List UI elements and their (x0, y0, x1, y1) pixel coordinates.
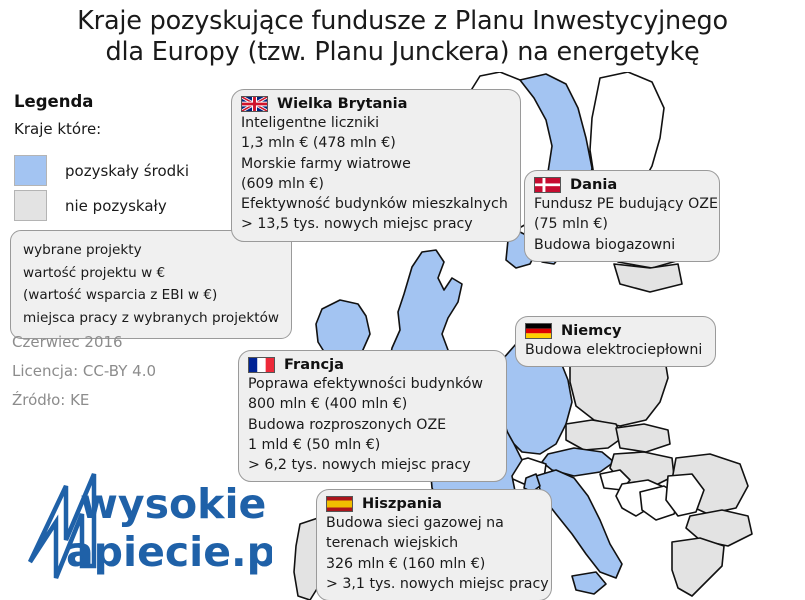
legend-swatch-unfunded (14, 190, 47, 221)
callout-header: Wielka Brytania (241, 95, 510, 112)
callout-line: (75 mln €) (534, 214, 709, 234)
key-line-4: miejsca pracy z wybranych projektów (23, 307, 279, 330)
wysokienapiecie-logo[interactable]: wysokie apiecie.pl (22, 470, 272, 585)
callout-hiszpania[interactable]: Hiszpania Budowa sieci gazowej na terena… (316, 489, 552, 600)
callout-header: Niemcy (525, 322, 705, 339)
key-line-1: wybrane projekty (23, 239, 279, 262)
flag-uk-icon (241, 96, 268, 112)
callout-niemcy[interactable]: Niemcy Budowa elektrociepłowni (515, 316, 716, 367)
legend-item-funded: pozyskały środki (14, 155, 189, 186)
callout-line: > 3,1 tys. nowych miejsc pracy (326, 574, 541, 594)
callout-line: Budowa rozproszonych OZE (248, 415, 496, 435)
logo-word-1: wysokie (80, 480, 266, 528)
flag-germany-icon (525, 323, 552, 339)
legend-item-unfunded: nie pozyskały (14, 190, 167, 221)
callout-line: 1,3 mln € (478 mln €) (241, 133, 510, 153)
callout-line: > 6,2 tys. nowych miejsc pracy (248, 455, 496, 475)
callout-line: Inteligentne liczniki (241, 113, 510, 133)
callout-line: terenach wiejskich (326, 533, 541, 553)
key-line-3: (wartość wsparcia z EBI w €) (23, 284, 279, 307)
callout-line: Morskie farmy wiatrowe (241, 154, 510, 174)
publication-date: Czerwiec 2016 (12, 333, 123, 351)
key-explanation-box: wybrane projekty wartość projektu w € (w… (10, 230, 292, 339)
callout-line: 326 mln € (160 mln €) (326, 554, 541, 574)
callout-country-name: Hiszpania (362, 495, 442, 512)
callout-line: Fundusz PE budujący OZE (534, 194, 709, 214)
callout-header: Dania (534, 176, 709, 193)
legend-label-unfunded: nie pozyskały (65, 197, 167, 215)
flag-denmark-icon (534, 177, 561, 193)
callout-line: Budowa sieci gazowej na (326, 513, 541, 533)
flag-france-icon (248, 357, 275, 373)
callout-line: Poprawa efektywności budynków (248, 374, 496, 394)
callout-wielka-brytania[interactable]: Wielka Brytania Inteligentne liczniki 1,… (231, 89, 521, 242)
callout-country-name: Niemcy (561, 322, 621, 339)
legend-heading: Legenda (14, 92, 93, 111)
callout-country-name: Wielka Brytania (277, 95, 408, 112)
title-line-2: dla Europy (tzw. Planu Junckera) na ener… (0, 37, 805, 68)
callout-header: Hiszpania (326, 495, 541, 512)
callout-dania[interactable]: Dania Fundusz PE budujący OZE (75 mln €)… (524, 170, 720, 262)
legend-subheading: Kraje które: (14, 120, 101, 138)
infographic-root: Kraje pozyskujące fundusze z Planu Inwes… (0, 0, 805, 600)
callout-francja[interactable]: Francja Poprawa efektywności budynków 80… (238, 350, 507, 482)
logo-word-2: apiecie.pl (66, 528, 272, 576)
legend-swatch-funded (14, 155, 47, 186)
key-line-2: wartość projektu w € (23, 262, 279, 285)
license-text: Licencja: CC-BY 4.0 (12, 362, 156, 380)
source-text: Źródło: KE (12, 391, 89, 409)
callout-line: 800 mln € (400 mln €) (248, 394, 496, 414)
callout-line: 1 mld € (50 mln €) (248, 435, 496, 455)
flag-spain-icon (326, 496, 353, 512)
title-line-1: Kraje pozyskujące fundusze z Planu Inwes… (0, 6, 805, 37)
callout-header: Francja (248, 356, 496, 373)
callout-line: > 13,5 tys. nowych miejsc pracy (241, 214, 510, 234)
legend-label-funded: pozyskały środki (65, 162, 189, 180)
callout-line: Budowa elektrociepłowni (525, 340, 705, 360)
page-title: Kraje pozyskujące fundusze z Planu Inwes… (0, 6, 805, 68)
callout-line: Budowa biogazowni (534, 235, 709, 255)
callout-line: Efektywność budynków mieszkalnych (241, 194, 510, 214)
callout-line: (609 mln €) (241, 174, 510, 194)
callout-country-name: Dania (570, 176, 617, 193)
callout-country-name: Francja (284, 356, 344, 373)
